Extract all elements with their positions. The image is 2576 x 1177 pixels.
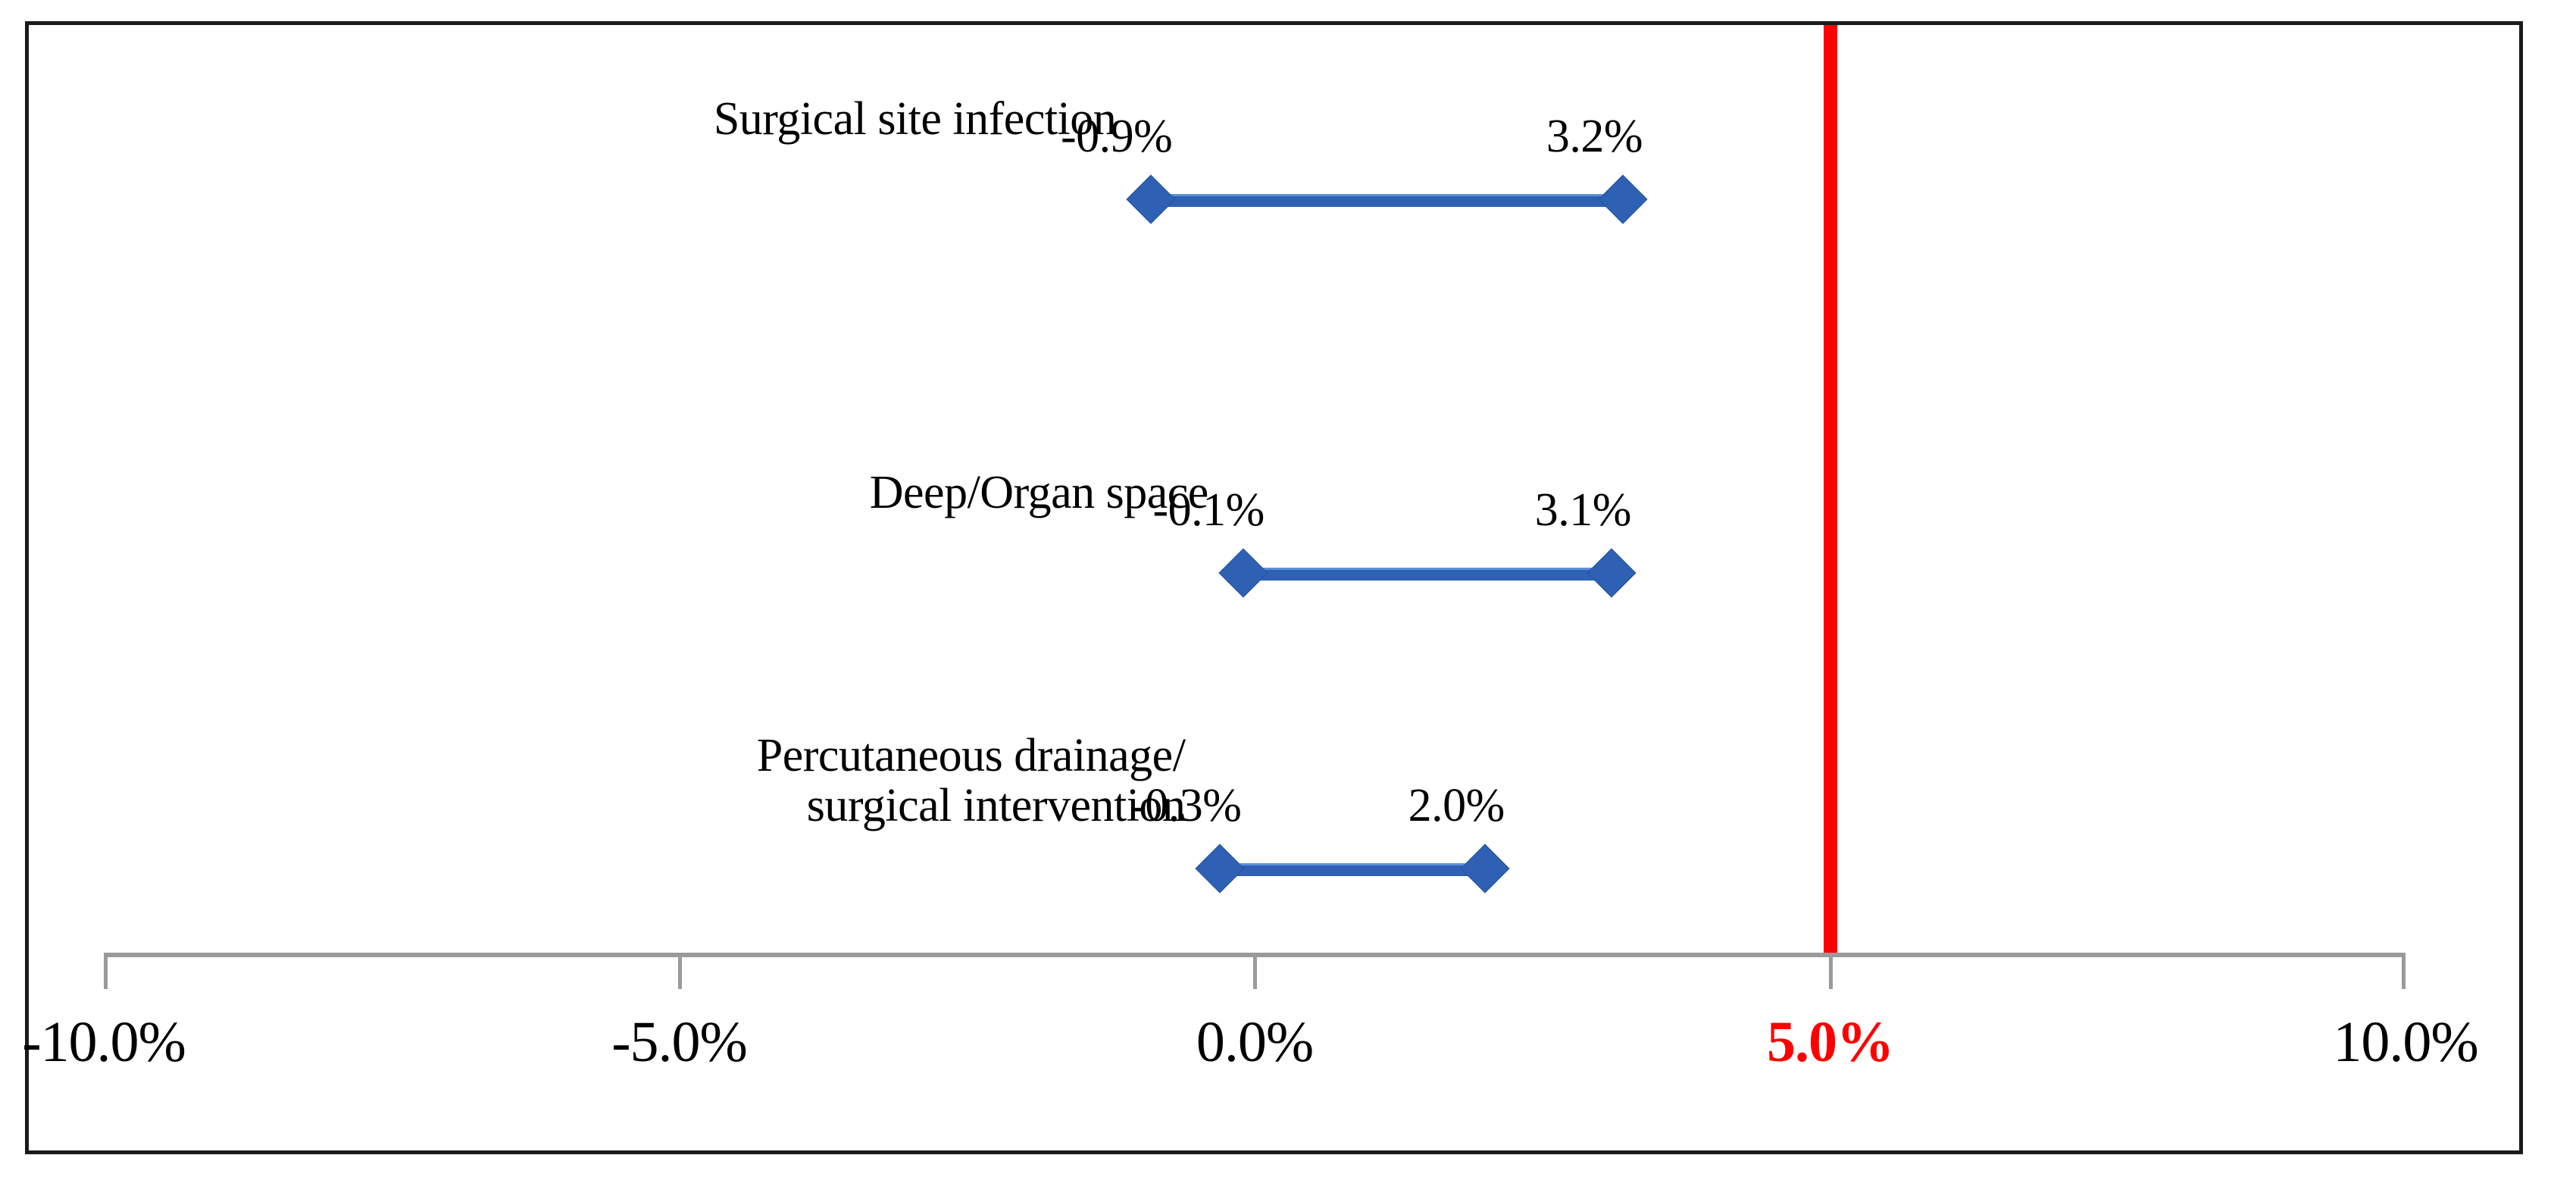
x-axis-tick-label: -10.0% [22,1010,186,1075]
value-label-lower: -0.1% [1153,484,1265,537]
x-axis-tick [1829,953,1833,989]
range-marker-upper [1599,174,1648,224]
range-marker-lower [1127,174,1176,224]
range-connector [1151,194,1623,207]
value-label-upper: 3.1% [1535,484,1631,537]
x-axis-tick-label: 10.0% [2333,1010,2478,1075]
x-axis-tick-label: 0.0% [1196,1010,1313,1075]
x-axis-tick [2402,953,2406,989]
chart-border-frame: Surgical site infection -0.9% 3.2% Deep/… [25,21,2523,1154]
x-axis-tick-label: -5.0% [611,1010,747,1075]
category-label: Surgical site infection [0,95,1116,145]
x-axis-tick [104,953,108,989]
x-axis-tick [678,953,682,989]
threshold-line-5-percent [1824,25,1837,957]
value-label-upper: 2.0% [1408,779,1505,833]
figure-root: Surgical site infection -0.9% 3.2% Deep/… [0,0,2576,1177]
category-label: Deep/Organ space [72,468,1208,518]
range-marker-upper [1587,548,1636,597]
range-marker-lower [1218,548,1268,597]
x-axis-tick [1253,953,1257,989]
plot-area: Surgical site infection -0.9% 3.2% Deep/… [29,25,2519,1150]
range-marker-upper [1460,844,1509,893]
value-label-lower: -0.9% [1061,110,1172,164]
category-label: Percutaneous drainage/ surgical interven… [48,731,1185,831]
range-marker-lower [1196,844,1245,893]
value-label-upper: 3.2% [1546,110,1643,164]
range-connector [1220,863,1484,876]
range-connector [1243,568,1612,581]
x-axis-tick-label: 5.0% [1767,1010,1893,1075]
value-label-lower: -0.3% [1130,779,1241,833]
